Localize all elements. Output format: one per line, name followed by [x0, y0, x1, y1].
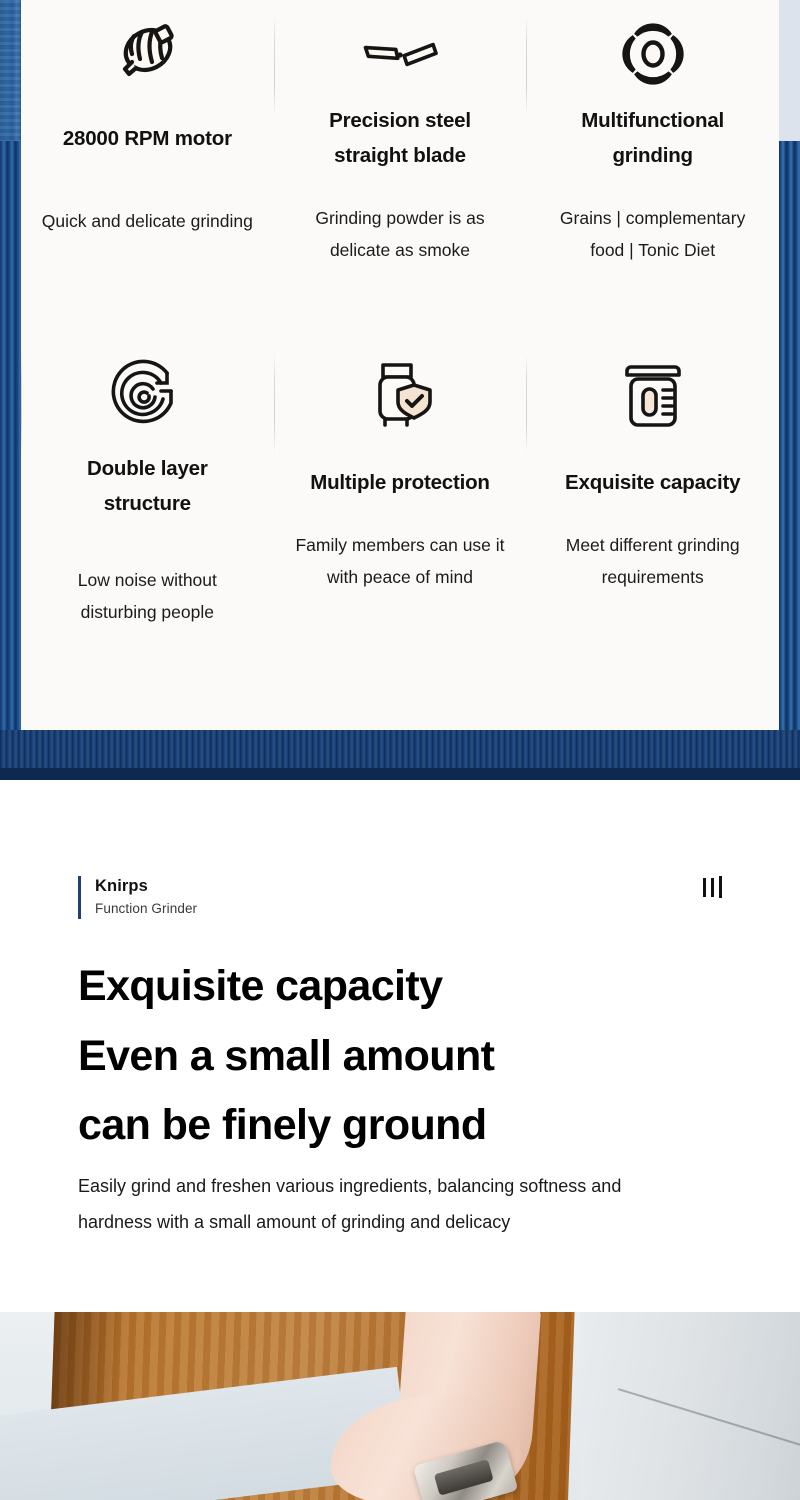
feature-description: Family members can use it with peace of … — [292, 529, 507, 594]
feature-description: Low noise without disturbing people — [40, 564, 255, 629]
product-lifestyle-photo — [0, 1300, 800, 1500]
right-blue-band-striped — [779, 141, 800, 768]
page-headline: Exquisite capacity Even a small amount c… — [78, 952, 738, 1161]
brand-accent-rule — [78, 876, 81, 919]
photo-sleeve — [580, 1300, 800, 1500]
three-bars-icon — [703, 876, 722, 898]
motor-icon — [107, 4, 187, 96]
feature-description: Grains | complementary food | Tonic Diet — [545, 202, 760, 267]
feature-title: Multiple protection — [310, 466, 490, 501]
headline-line-1: Exquisite capacity — [78, 952, 738, 1022]
spiral-layer-icon — [109, 342, 185, 434]
grinding-wheel-icon — [614, 4, 692, 96]
brand-subtitle: Function Grinder — [95, 901, 197, 916]
left-blue-band-striped — [0, 141, 21, 768]
feature-title: Double layer structure — [42, 452, 252, 522]
feature-description: Grinding powder is as delicate as smoke — [292, 202, 507, 267]
bottom-band-edge — [0, 768, 800, 780]
jar-shield-icon — [362, 342, 438, 434]
feature-title: Multifunctional grinding — [548, 104, 758, 174]
feature-title: 28000 RPM motor — [63, 122, 232, 157]
subcopy-paragraph: Easily grind and freshen various ingredi… — [78, 1168, 678, 1240]
brand-name: Knirps — [95, 876, 197, 897]
feature-description: Meet different grinding requirements — [545, 529, 760, 594]
features-section: 28000 RPM motor Quick and delicate grind… — [0, 0, 800, 780]
measuring-cup-icon — [617, 342, 689, 434]
feature-card-motor[interactable]: 28000 RPM motor Quick and delicate grind… — [21, 4, 274, 342]
headline-line-3: can be finely ground — [78, 1091, 738, 1161]
blade-icon — [356, 4, 444, 96]
feature-card-blade[interactable]: Precision steel straight blade Grinding … — [274, 4, 527, 342]
feature-card-capacity[interactable]: Exquisite capacity Meet different grindi… — [526, 342, 779, 682]
feature-card-protection[interactable]: Multiple protection Family members can u… — [274, 342, 527, 682]
features-card: 28000 RPM motor Quick and delicate grind… — [21, 0, 779, 730]
photo-top-edge — [0, 1300, 800, 1312]
features-grid: 28000 RPM motor Quick and delicate grind… — [21, 0, 779, 730]
feature-title: Exquisite capacity — [565, 466, 740, 501]
feature-description: Quick and delicate grinding — [42, 205, 253, 237]
headline-line-2: Even a small amount — [78, 1022, 738, 1092]
brand-identity: Knirps Function Grinder — [78, 876, 197, 919]
copy-section: Knirps Function Grinder Exquisite capaci… — [0, 780, 800, 1300]
feature-title: Precision steel straight blade — [295, 104, 505, 174]
left-blue-band-top — [0, 0, 21, 141]
feature-card-multifunctional[interactable]: Multifunctional grinding Grains | comple… — [526, 4, 779, 342]
brand-block: Knirps Function Grinder — [78, 876, 722, 919]
feature-card-double-layer[interactable]: Double layer structure Low noise without… — [21, 342, 274, 682]
